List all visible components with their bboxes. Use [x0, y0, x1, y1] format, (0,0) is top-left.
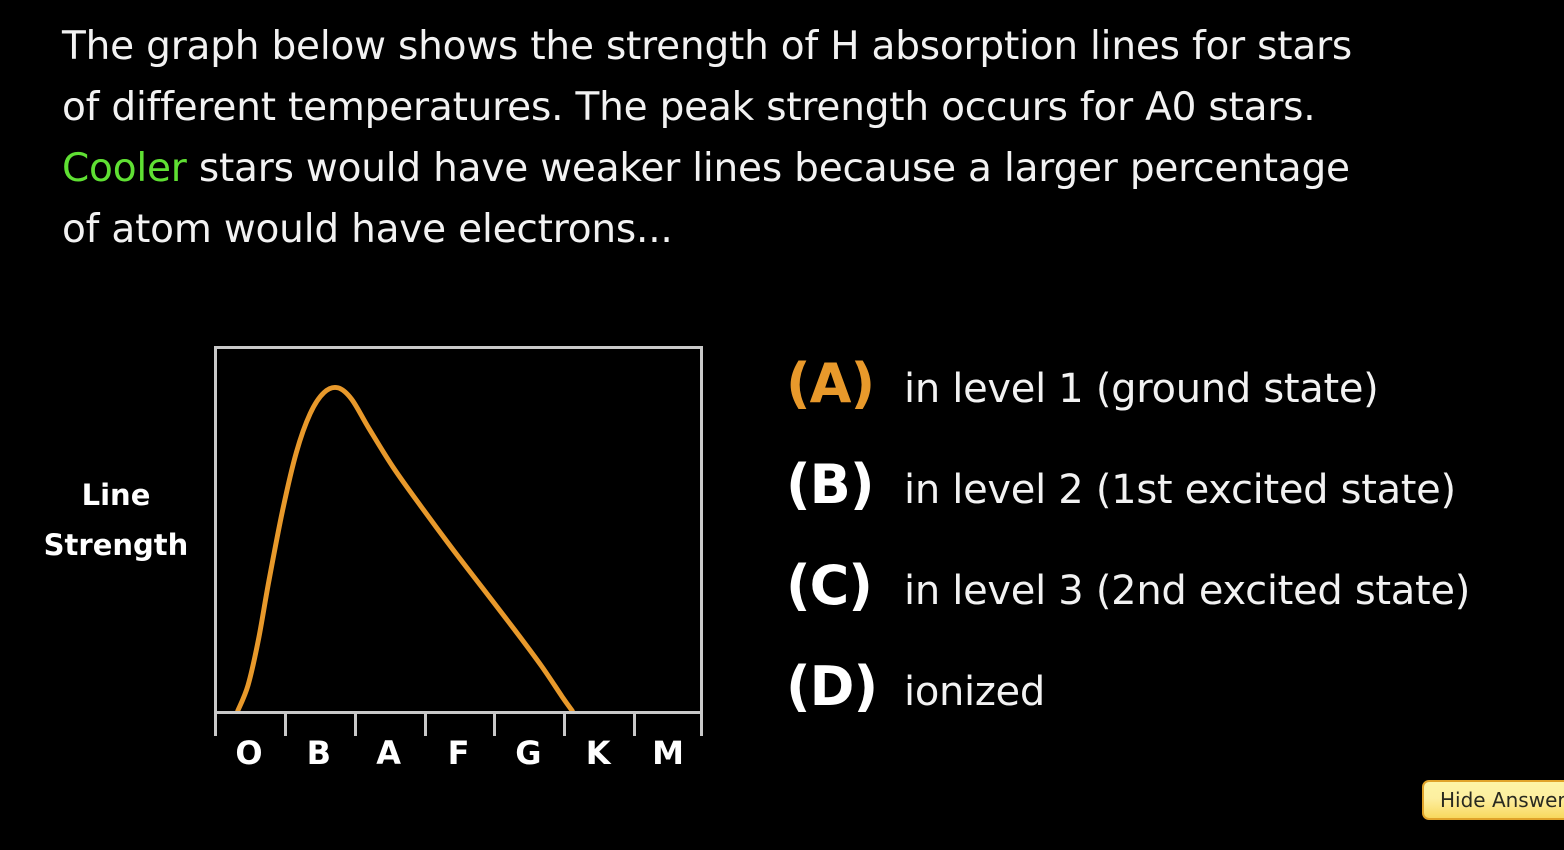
x-axis-tick-7: [700, 714, 703, 736]
y-axis-label-line-2: Strength: [26, 520, 206, 570]
answer-text-a: in level 1 (ground state): [904, 366, 1378, 412]
answer-key-a: (A): [786, 352, 904, 415]
x-axis-tick-1: [284, 714, 287, 736]
question-line-2: of different temperatures. The peak stre…: [62, 77, 1532, 138]
x-axis-tick-5: [563, 714, 566, 736]
x-axis-label-g: G: [515, 734, 541, 772]
y-axis-label: Line Strength: [26, 470, 206, 570]
x-axis-tick-3: [424, 714, 427, 736]
highlighted-word-cooler: Cooler: [62, 146, 187, 191]
question-line-4-text: of atom would have electrons...: [62, 207, 673, 252]
line-strength-chart: Line Strength OBAFGKM: [0, 330, 760, 790]
x-axis-label-m: M: [652, 734, 684, 772]
answer-choice-a[interactable]: (A) in level 1 (ground state): [786, 352, 1564, 453]
x-axis-label-b: B: [307, 734, 331, 772]
answer-key-d: (D): [786, 655, 904, 718]
answer-choice-list: (A) in level 1 (ground state) (B) in lev…: [786, 352, 1564, 756]
answer-choice-c[interactable]: (C) in level 3 (2nd excited state): [786, 554, 1564, 655]
x-axis-label-o: O: [235, 734, 262, 772]
x-axis-tick-2: [354, 714, 357, 736]
x-axis-tick-row: [214, 714, 703, 736]
x-axis-label-f: F: [448, 734, 470, 772]
x-axis-tick-4: [493, 714, 496, 736]
answer-text-b: in level 2 (1st excited state): [904, 467, 1456, 513]
question-line-1-text: The graph below shows the strength of H …: [62, 24, 1352, 69]
answer-choice-b[interactable]: (B) in level 2 (1st excited state): [786, 453, 1564, 554]
question-line-1: The graph below shows the strength of H …: [62, 16, 1532, 77]
question-line-4: of atom would have electrons...: [62, 199, 1532, 260]
question-line-3-text: stars would have weaker lines because a …: [187, 146, 1350, 191]
x-axis-label-k: K: [586, 734, 611, 772]
x-axis-tick-labels: OBAFGKM: [214, 734, 703, 780]
plot-curve-svg: [217, 349, 700, 711]
question-line-2-text: of different temperatures. The peak stre…: [62, 85, 1315, 130]
bottom-cutoff-text: · · · ·: [100, 843, 1007, 850]
x-axis-tick-6: [633, 714, 636, 736]
answer-choice-d[interactable]: (D) ionized: [786, 655, 1564, 756]
answer-key-b: (B): [786, 453, 904, 516]
answer-text-d: ionized: [904, 669, 1045, 715]
x-axis-label-a: A: [376, 734, 401, 772]
hide-answer-button[interactable]: Hide Answer: [1422, 780, 1564, 820]
x-axis-tick-0: [214, 714, 217, 736]
hide-answer-label: Hide Answer: [1440, 788, 1564, 812]
answer-text-c: in level 3 (2nd excited state): [904, 568, 1470, 614]
answer-key-c: (C): [786, 554, 904, 617]
h-absorption-curve: [238, 387, 573, 711]
plot-frame: [214, 346, 703, 714]
question-prompt: The graph below shows the strength of H …: [62, 16, 1532, 260]
y-axis-label-line-1: Line: [26, 470, 206, 520]
question-line-3: Cooler stars would have weaker lines bec…: [62, 138, 1532, 199]
bottom-cutoff-row: · · · ·: [0, 843, 1564, 850]
